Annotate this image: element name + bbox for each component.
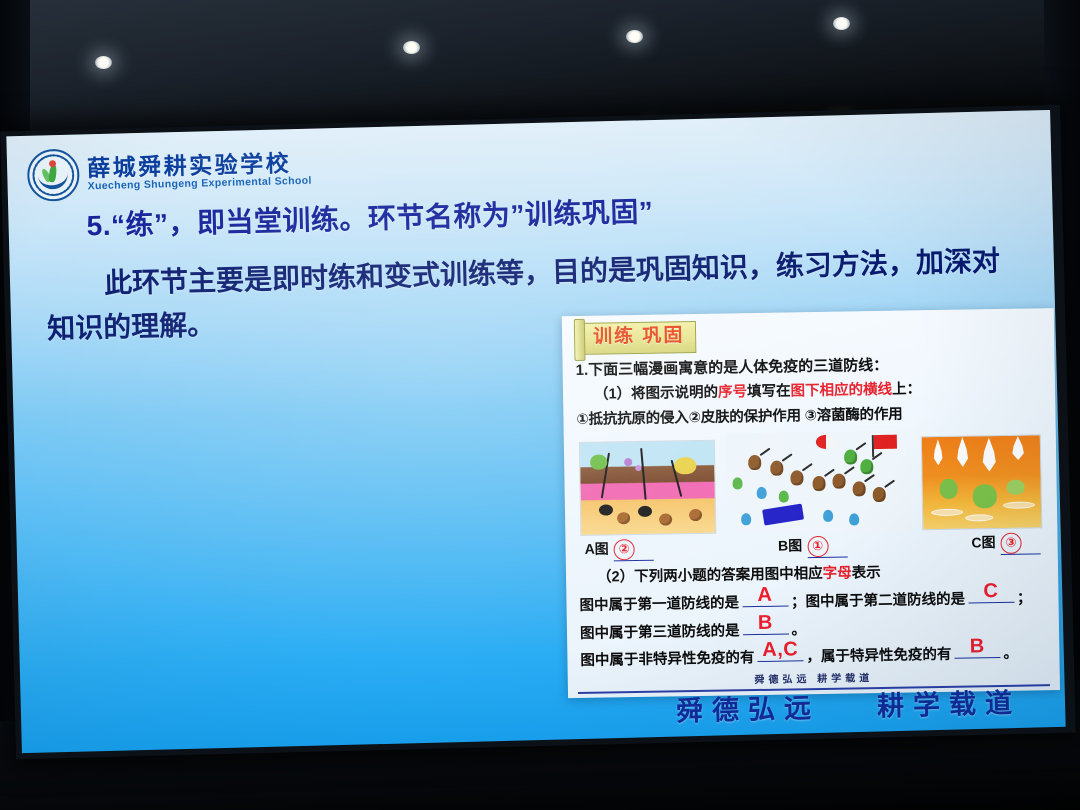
answer-1-value: A	[742, 585, 788, 606]
figure-c-answer: ③	[1000, 533, 1021, 554]
germ-violet-a	[624, 458, 632, 466]
figure-a-label: A图	[584, 540, 608, 560]
answer-row-1: 图中属于第一道防线的是A；图中属于第二道防线的是C；	[579, 588, 1047, 616]
answer-1-prompt: 图中属于第一道防线的是	[579, 595, 739, 614]
figure-a-blank: ②	[614, 539, 654, 562]
figure-c-label: C图	[971, 533, 995, 553]
red-shield-icon	[815, 435, 835, 449]
answer-3-prompt: 图中属于第三道防线的是	[580, 623, 740, 642]
ceiling-light-2	[403, 41, 420, 54]
germ-violet-a2	[635, 465, 641, 471]
figure-c-lysozyme-droplets-cartoon	[921, 435, 1043, 531]
slogan-left: 舜德弘远	[676, 693, 821, 727]
germ-green-c3	[1007, 480, 1025, 495]
section-badge-label: 训练 巩固	[581, 321, 697, 355]
answer-4-blank: A,C	[758, 660, 804, 662]
slogan-right: 耕学载道	[877, 688, 1022, 722]
sub2-suffix: 表示	[852, 565, 881, 581]
answer-5-tail: 。	[1003, 646, 1018, 662]
ceiling-light-3	[626, 30, 643, 43]
ceiling-light-1	[95, 56, 112, 69]
figure-b-answer: ①	[807, 536, 828, 557]
sub2-red: 字母	[823, 566, 852, 582]
figure-b-label: B图	[778, 537, 802, 557]
answer-row-3: 图中属于非特异性免疫的有A,C，属于特异性免疫的有B。	[580, 643, 1048, 671]
figure-label-c: C图 ③	[971, 533, 1040, 556]
figure-b-blank: ①	[807, 536, 847, 559]
sub1-mid: 填写在	[747, 384, 791, 401]
answer-4-tail: ，	[806, 649, 821, 665]
question-1-sub-1: （1）将图示说明的序号填写在图下相应的横线上：	[594, 378, 1044, 406]
answer-4-value: A,C	[757, 639, 803, 660]
sub2-prefix: （2）下列两小题的答案用图中相应	[597, 566, 823, 586]
badge-clip-icon	[574, 319, 586, 361]
figure-row	[579, 429, 1043, 537]
blue-banner-icon	[762, 504, 804, 526]
answer-2-prompt: 图中属于第二道防线的是	[805, 592, 965, 611]
ceiling-light-4	[833, 17, 850, 30]
figure-a-skin-cross-section-cartoon	[579, 440, 717, 536]
sub1-prefix: （1）将图示说明的	[594, 385, 718, 403]
answer-3-tail: 。	[791, 622, 806, 638]
germ-yellow-a	[674, 457, 696, 474]
answer-2-tail: ；	[1017, 590, 1032, 606]
section-badge: 训练 巩固	[581, 321, 697, 355]
figure-b-battle-scene-cartoon	[725, 431, 912, 534]
projection-screen: 薛城舜耕实验学校 Xuecheng Shungeng Experimental …	[0, 105, 1076, 760]
school-crest-icon	[27, 149, 80, 202]
sub1-suffix: 上：	[892, 382, 921, 398]
answer-2-blank: C	[968, 602, 1014, 604]
germ-green-c1	[940, 479, 958, 499]
answer-4-prompt: 图中属于非特异性免疫的有	[580, 650, 754, 669]
figure-label-a: A图 ②	[584, 539, 653, 562]
question-1-options: ①抵抗抗原的侵入②皮肤的保护作用 ③溶菌酶的作用	[576, 402, 1044, 430]
answer-3-value: B	[742, 612, 788, 633]
school-brand: 薛城舜耕实验学校 Xuecheng Shungeng Experimental …	[27, 143, 312, 202]
red-flag-icon	[873, 435, 896, 449]
sub1-red-a: 序号	[718, 384, 747, 400]
slide-footer-slogan: 舜德弘远 耕学载道	[676, 681, 1022, 729]
figure-c-blank: ③	[1000, 533, 1040, 556]
figure-label-b: B图 ①	[778, 536, 847, 559]
figure-label-row: A图 ② B图 ① C图	[584, 533, 1040, 563]
figure-a-answer: ②	[614, 539, 635, 560]
answer-1-blank: A	[742, 606, 788, 608]
answer-5-blank: B	[954, 657, 1000, 659]
answer-3-blank: B	[743, 633, 789, 635]
worksheet-card: 训练 巩固 1.下面三幅漫画寓意的是人体免疫的三道防线： （1）将图示说明的序号…	[562, 308, 1060, 698]
answer-1-tail: ；	[791, 594, 806, 610]
presentation-slide: 薛城舜耕实验学校 Xuecheng Shungeng Experimental …	[6, 110, 1065, 753]
classroom-photo: 薛城舜耕实验学校 Xuecheng Shungeng Experimental …	[0, 0, 1080, 810]
answer-2-value: C	[968, 581, 1014, 602]
answer-5-prompt: 属于特异性免疫的有	[821, 647, 952, 665]
germ-green-c2	[973, 484, 997, 508]
answer-5-value: B	[954, 636, 1000, 657]
sub1-red-b: 图下相应的横线	[790, 382, 892, 400]
question-1-text: 1.下面三幅漫画寓意的是人体免疫的三道防线：	[575, 352, 1043, 381]
